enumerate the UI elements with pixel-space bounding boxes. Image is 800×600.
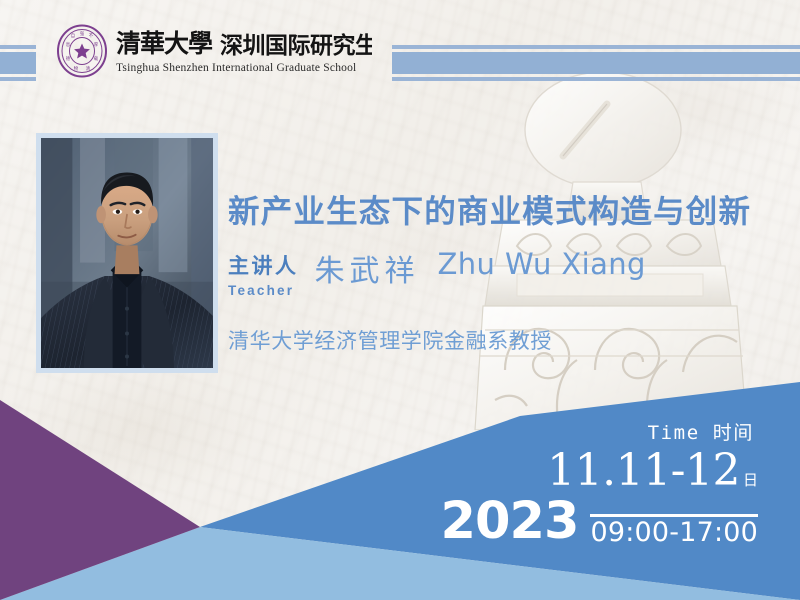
speaker-label-cn: 主讲人 xyxy=(228,250,299,280)
svg-text:物: 物 xyxy=(74,65,79,72)
bar-band xyxy=(392,52,800,74)
speaker-name-en: Zhu Wu Xiang xyxy=(438,247,646,281)
event-time-block: Time 时间 11.11-12 日 2023 09:00-17:00 xyxy=(400,418,780,546)
svg-text:深圳国际研究生院: 深圳国际研究生院 xyxy=(220,32,372,59)
event-date-line: 11.11-12 日 xyxy=(400,449,780,492)
svg-text:强: 强 xyxy=(80,31,85,37)
svg-text:自: 自 xyxy=(71,32,75,39)
event-hours: 09:00-17:00 xyxy=(590,519,758,546)
bar-line-bottom xyxy=(0,77,36,81)
institution-logo: 自强不 息厚 德载 物清 清華大學 深圳国际研究生院 Tsinghua Shen… xyxy=(56,24,372,78)
event-date: 11.11-12 xyxy=(547,449,740,492)
svg-text:清華大學: 清華大學 xyxy=(116,29,213,58)
tsinghua-seal-icon: 自强不 息厚 德载 物清 xyxy=(56,24,108,78)
speaker-label: 主讲人 Teacher xyxy=(228,250,299,298)
speaker-name-cn: 朱武祥 xyxy=(315,246,420,290)
decorative-bar-left xyxy=(0,45,36,81)
logo-english-wordmark: Tsinghua Shenzhen International Graduate… xyxy=(116,62,372,74)
time-label: Time 时间 xyxy=(400,418,780,445)
svg-text:不: 不 xyxy=(89,33,94,39)
poster-canvas: 自强不 息厚 德载 物清 清華大學 深圳国际研究生院 Tsinghua Shen… xyxy=(0,0,800,600)
bar-line-top xyxy=(392,45,800,49)
decorative-bar-right xyxy=(392,45,800,81)
event-date-suffix: 日 xyxy=(743,469,758,490)
event-year: 2023 xyxy=(440,499,578,546)
svg-text:息: 息 xyxy=(66,41,71,48)
svg-text:载: 载 xyxy=(94,55,99,62)
bar-line-top xyxy=(0,45,36,49)
page-title: 新产业生态下的商业模式构造与创新 xyxy=(228,186,751,232)
logo-chinese-wordmark: 清華大學 深圳国际研究生院 xyxy=(116,29,372,59)
speaker-row: 主讲人 Teacher 朱武祥 Zhu Wu Xiang xyxy=(228,250,646,298)
event-hours-wrap: 09:00-17:00 xyxy=(590,512,758,546)
speaker-label-en: Teacher xyxy=(228,283,299,298)
svg-text:清: 清 xyxy=(86,65,91,72)
svg-text:厚: 厚 xyxy=(94,42,99,48)
event-year-line: 2023 09:00-17:00 xyxy=(400,499,780,546)
svg-text:德: 德 xyxy=(66,55,71,62)
bar-line-bottom xyxy=(392,77,800,81)
bar-band xyxy=(0,52,36,74)
